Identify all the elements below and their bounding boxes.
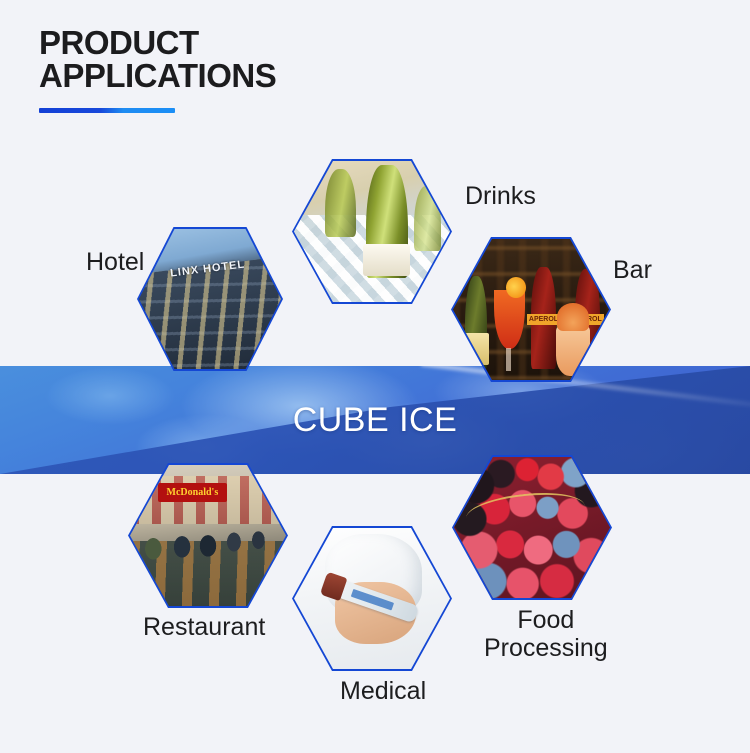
hex-tile-medical[interactable]	[292, 526, 452, 671]
hex-tile-bar[interactable]	[451, 237, 611, 382]
hex-tile-food-processing[interactable]	[452, 455, 612, 600]
tile-label-bar: Bar	[613, 256, 652, 284]
tile-label-food-processing: Food Processing	[484, 606, 608, 662]
bar-photo	[453, 239, 609, 380]
wine-bottle-main	[366, 165, 408, 278]
hex-image-medical	[294, 528, 450, 669]
aperol-bottle-1	[531, 267, 556, 369]
hex-image-food-processing	[454, 457, 610, 598]
champagne-bottle	[465, 276, 487, 369]
title-underline-rule	[39, 108, 175, 113]
wine-bottle-secondary	[325, 169, 356, 237]
banner-label: CUBE ICE	[0, 366, 750, 474]
restaurant-photo	[130, 465, 286, 606]
drinks-photo	[294, 161, 450, 302]
hex-tile-restaurant[interactable]	[128, 463, 288, 608]
tile-label-restaurant: Restaurant	[143, 613, 265, 641]
cube-ice-banner: CUBE ICE	[0, 366, 750, 474]
product-applications-infographic: PRODUCT APPLICATIONS CUBE ICE Hotel Drin…	[0, 0, 750, 753]
restaurant-sign	[158, 483, 227, 501]
hex-image-hotel	[139, 229, 281, 369]
hotel-photo	[139, 229, 281, 369]
page-title: PRODUCT APPLICATIONS	[39, 26, 519, 92]
wine-bottle-tertiary	[414, 186, 441, 251]
tile-label-drinks: Drinks	[465, 182, 536, 210]
hex-image-bar	[453, 239, 609, 380]
medical-photo	[294, 528, 450, 669]
hex-image-drinks	[294, 161, 450, 302]
hex-tile-drinks[interactable]	[292, 159, 452, 304]
header: PRODUCT APPLICATIONS	[39, 26, 519, 113]
diners	[136, 519, 280, 567]
hex-image-restaurant	[130, 465, 286, 606]
hex-tile-hotel[interactable]	[137, 227, 283, 371]
tile-label-medical: Medical	[340, 677, 426, 705]
berries-photo	[454, 457, 610, 598]
tile-label-hotel: Hotel	[86, 248, 144, 276]
